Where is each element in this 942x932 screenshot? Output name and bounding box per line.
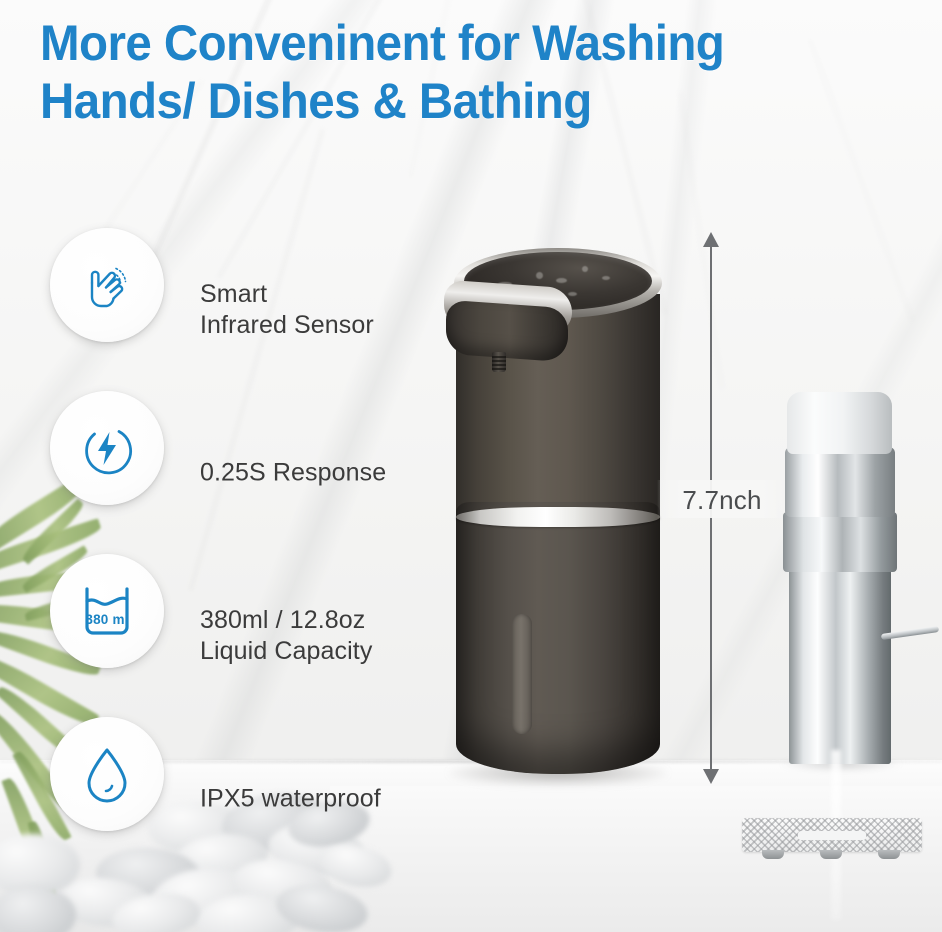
faucet-cap: [787, 392, 892, 454]
feature-list: Smart Infrared Sensor 0.25S Response: [50, 228, 470, 880]
faucet-neck: [785, 447, 895, 517]
tray-perforated-surface: [742, 818, 922, 852]
faucet-body: [789, 564, 891, 764]
feature-label: 380ml / 12.8oz Liquid Capacity: [200, 605, 372, 667]
arrow-up-icon: [703, 232, 719, 247]
automatic-soap-dispenser: [438, 222, 678, 782]
feature-response-time: 0.25S Response: [50, 391, 470, 554]
feature-icon-badge: [50, 391, 164, 505]
dispenser-lower-body: [456, 502, 660, 774]
chrome-trim-band: [456, 507, 660, 527]
feature-liquid-capacity: 380 ml 380ml / 12.8oz Liquid Capacity: [50, 554, 470, 717]
feature-icon-badge: [50, 228, 164, 342]
feature-label: IPX5 waterproof: [200, 783, 381, 814]
faucet-mid-collar: [783, 512, 897, 572]
soap-tray: [742, 818, 922, 870]
feature-smart-infrared-sensor: Smart Infrared Sensor: [50, 228, 470, 391]
feature-label: 0.25S Response: [200, 457, 386, 488]
feature-label: Smart Infrared Sensor: [200, 279, 374, 341]
product-marketing-image: More Conveninent for Washing Hands/ Dish…: [0, 0, 942, 932]
feature-icon-badge: 380 ml: [50, 554, 164, 668]
chrome-faucet: [763, 392, 923, 792]
page-title: More Conveninent for Washing Hands/ Dish…: [40, 14, 857, 130]
feature-waterproof: IPX5 waterproof: [50, 717, 470, 880]
lightning-bolt-icon: [75, 416, 139, 480]
liquid-level-window: [512, 614, 532, 734]
beaker-icon-label: 380 ml: [74, 612, 140, 627]
beaker-icon: 380 ml: [74, 579, 140, 643]
water-drop-icon: [76, 742, 138, 806]
dispenser-nozzle: [492, 352, 506, 372]
arrow-down-icon: [703, 769, 719, 784]
headline-line-1: More Conveninent for Washing: [40, 15, 724, 71]
feature-icon-badge: [50, 717, 164, 831]
hand-sensor-icon: [75, 253, 139, 317]
headline-line-2: Hands/ Dishes & Bathing: [40, 72, 857, 130]
spout-housing: [446, 300, 568, 363]
